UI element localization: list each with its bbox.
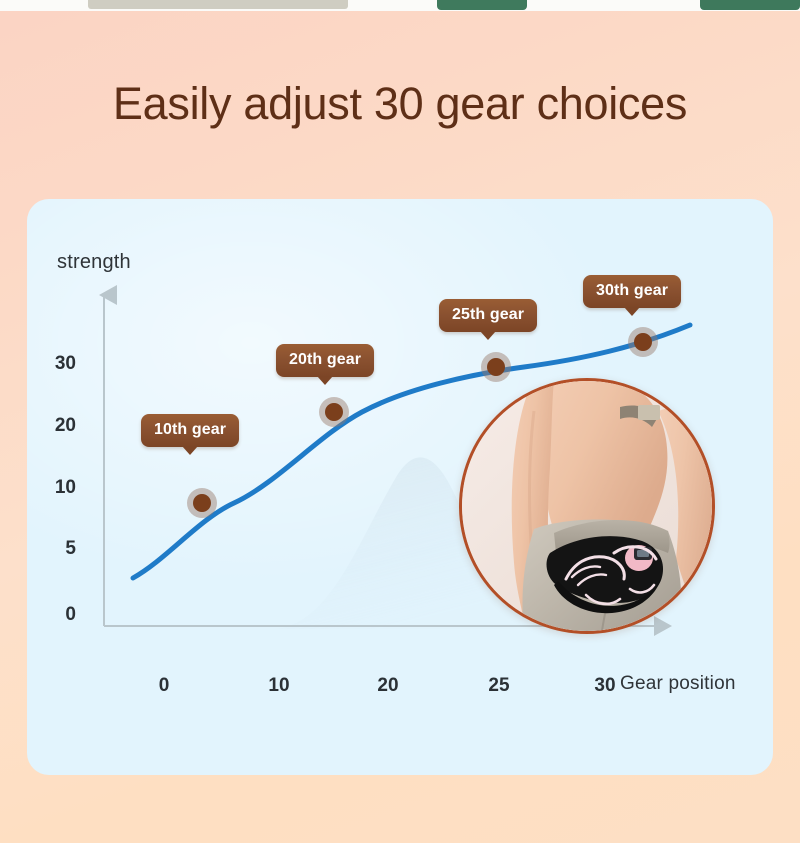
data-point-10th-gear[interactable] xyxy=(187,488,217,518)
y-tick-30: 30 xyxy=(32,353,76,375)
data-point-core xyxy=(193,494,211,512)
x-tick-10: 10 xyxy=(259,675,299,697)
x-axis-title: Gear position xyxy=(620,673,736,695)
x-tick-0: 0 xyxy=(144,675,184,697)
data-point-20th-gear[interactable] xyxy=(319,397,349,427)
callout-20th-gear[interactable]: 20th gear xyxy=(276,344,374,377)
sliver-green-block-left xyxy=(437,0,527,10)
data-point-core xyxy=(325,403,343,421)
data-point-core xyxy=(487,358,505,376)
y-tick-5: 5 xyxy=(32,538,76,560)
sliver-green-block-right xyxy=(700,0,800,10)
callout-10th-gear[interactable]: 10th gear xyxy=(141,414,239,447)
y-axis-title: strength xyxy=(57,251,131,274)
x-tick-20: 20 xyxy=(368,675,408,697)
data-point-30th-gear[interactable] xyxy=(628,327,658,357)
y-tick-10: 10 xyxy=(32,477,76,499)
x-tick-30: 30 xyxy=(585,675,625,697)
x-tick-25: 25 xyxy=(479,675,519,697)
page-title: Easily adjust 30 gear choices xyxy=(0,78,800,130)
data-point-25th-gear[interactable] xyxy=(481,352,511,382)
product-photo xyxy=(459,378,715,634)
data-point-core xyxy=(634,333,652,351)
page-root: Easily adjust 30 gear choices xyxy=(0,0,800,843)
product-photo-illustration xyxy=(462,381,712,631)
y-tick-0: 0 xyxy=(32,604,76,626)
sliver-grey-block xyxy=(88,0,348,9)
callout-30th-gear[interactable]: 30th gear xyxy=(583,275,681,308)
callout-25th-gear[interactable]: 25th gear xyxy=(439,299,537,332)
y-tick-20: 20 xyxy=(32,415,76,437)
